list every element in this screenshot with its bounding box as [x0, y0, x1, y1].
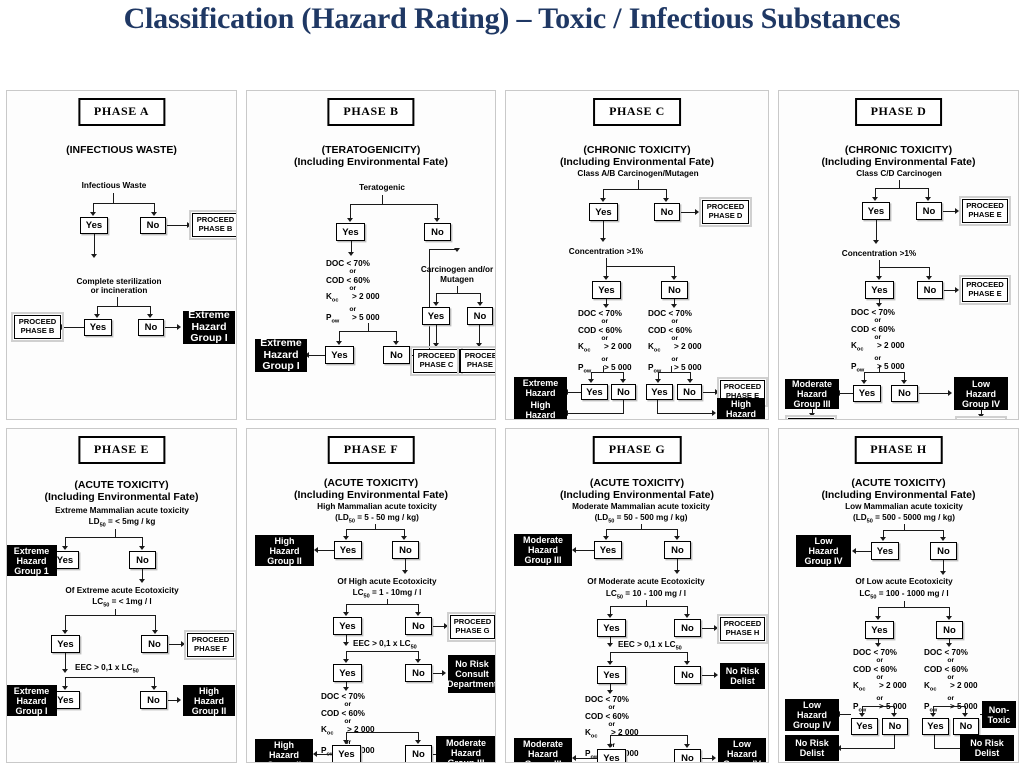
hazard-line2: Hazard	[16, 696, 46, 706]
question-infectious-waste: Infectious Waste	[59, 181, 169, 191]
criteria-koc-val: > 2 000	[950, 681, 978, 690]
criteria-or-1: or	[853, 657, 907, 664]
criteria-doc: DOC < 70%	[585, 695, 629, 704]
hazard-line2: Hazard	[525, 388, 555, 398]
decision-yes-d1[interactable]: Yes	[862, 202, 890, 220]
criteria-koc-sub: oc	[930, 687, 937, 693]
proceed-phase-e-d3[interactable]: PROCEED PHASE E	[788, 418, 834, 420]
criteria-or-2: or	[585, 721, 639, 728]
decision-no-d3[interactable]: No	[891, 385, 918, 402]
criteria-pow-val: > 5 000	[877, 362, 905, 371]
hazard-line1: Low	[815, 536, 833, 546]
outcome-high-hazard-group-ii-c-left: High Hazard Group II	[514, 399, 567, 420]
panel-subtitle-c-2: (Including Environmental Fate)	[506, 156, 768, 168]
criteria-doc: DOC < 70%	[321, 692, 365, 701]
phase-badge-b: PHASE B	[327, 98, 414, 126]
lc-prefix: LC	[353, 588, 364, 597]
criteria-doc: DOC < 70%	[851, 308, 895, 317]
proceed-phase-e-b[interactable]: PROCEED PHASE E	[460, 349, 496, 373]
question-ld50-high: (LD50 = 5 - 50 mg / kg)	[287, 513, 467, 527]
hazard-line1: Moderate	[523, 535, 563, 545]
question-ld50-extreme: LD50 = < 5mg / kg	[27, 517, 217, 531]
outcome-extreme-hazard-group-i-a: Extreme Hazard Group I	[183, 311, 235, 344]
criteria-koc-sub: oc	[654, 348, 661, 354]
panel-subtitle-a: (INFECTIOUS WASTE)	[7, 144, 236, 156]
outcome-moderate-hazard-group-iii-g1: Moderate Hazard Group III	[514, 534, 572, 566]
criteria-or-2: or	[648, 335, 702, 342]
hazard-line1: Low	[972, 379, 990, 389]
nontoxic-line1: Non-	[989, 705, 1010, 715]
hazard-line3: Group IV	[962, 399, 1000, 409]
decision-no-f1[interactable]: No	[392, 541, 419, 559]
decision-no-e2[interactable]: No	[141, 635, 168, 653]
decision-yes-d3[interactable]: Yes	[853, 385, 881, 402]
proceed-line2: PHASE E	[968, 290, 1001, 299]
panel-phase-e: PHASE E (ACUTE TOXICITY) (Including Envi…	[6, 428, 237, 763]
outcome-moderate-hazard-group-iii-g2: Moderate Hazard Group III	[514, 738, 572, 763]
panel-subtitle-g-2: (Including Environmental Fate)	[506, 489, 768, 501]
eec-prefix: EEC > 0,1 x LC	[75, 663, 133, 672]
criteria-stack-c-right: DOC < 70% or COD < 60% or Koc> 2 000 or …	[648, 309, 702, 377]
decision-no-a1[interactable]: No	[140, 217, 166, 234]
hazard-line1: High	[275, 536, 295, 546]
hazard-line2: Hazard	[528, 545, 558, 555]
decision-no-c1[interactable]: No	[654, 203, 680, 221]
hazard-line3: Group II	[523, 420, 558, 421]
hazard-line1: Low	[733, 739, 751, 749]
decision-yes-h1[interactable]: Yes	[871, 542, 899, 560]
hazard-line2: Hazard	[194, 696, 224, 706]
decision-yes-f4[interactable]: Yes	[332, 745, 361, 763]
hazard-line3: Group I	[262, 361, 299, 373]
decision-no-b1[interactable]: No	[424, 223, 451, 241]
criteria-stack-b: DOC < 70% or COD < 60% or Koc> 2 000 or …	[326, 259, 380, 327]
hazard-line3: Group II	[267, 556, 302, 566]
slide-canvas: Classification (Hazard Rating) – Toxic /…	[0, 0, 1024, 768]
decision-yes-b1[interactable]: Yes	[336, 223, 365, 241]
criteria-or-2: or	[853, 674, 907, 681]
decision-yes-b2[interactable]: Yes	[325, 346, 354, 364]
decision-no-h4[interactable]: No	[953, 718, 979, 735]
outcome-no-risk-delist-g: No Risk Delist	[720, 663, 765, 689]
proceed-phase-e-d4[interactable]: PROCEED PHASE E	[958, 419, 1004, 420]
norisk-line1: No Risk	[970, 738, 1004, 748]
panel-subtitle-b-1: (TERATOGENICITY)	[247, 144, 495, 156]
phase-badge-c: PHASE C	[593, 98, 681, 126]
panel-phase-b: PHASE B (TERATOGENICITY) (Including Envi…	[246, 90, 496, 420]
hazard-line3: Group 1	[14, 566, 49, 576]
question-class-ab-carcinogen: Class A/B Carcinogen/Mutagen	[538, 169, 738, 179]
phase-badge-g: PHASE G	[593, 436, 682, 464]
proceed-phase-h-g[interactable]: PROCEED PHASE H	[720, 617, 765, 641]
panel-subtitle-d-2: (Including Environmental Fate)	[779, 156, 1018, 168]
hazard-line1: High	[274, 740, 294, 750]
decision-no-f4[interactable]: No	[405, 745, 432, 763]
outcome-moderate-hazard-group-iii-f: Moderate Hazard Group III	[436, 736, 496, 763]
phase-badge-d: PHASE D	[855, 98, 943, 126]
lc-prefix: LC	[859, 589, 870, 598]
criteria-cod: COD < 60%	[321, 709, 365, 718]
criteria-cod: COD < 60%	[648, 326, 692, 335]
hazard-line2: Hazard	[797, 710, 827, 720]
criteria-cod: COD < 60%	[326, 276, 370, 285]
question-lc50-extreme: LC50 = < 1mg / l	[32, 597, 212, 611]
decision-no-e1[interactable]: No	[129, 551, 156, 569]
outcome-extreme-hazard-group-i-b: Extreme Hazard Group I	[255, 339, 307, 372]
ld-value: = 50 - 500 mg / kg)	[614, 513, 687, 522]
ld-value: = 500 - 5000 mg / kg)	[873, 513, 955, 522]
lc-prefix: LC	[92, 597, 103, 606]
criteria-koc-val: > 2 000	[877, 341, 905, 350]
decision-no-c3[interactable]: No	[611, 384, 636, 400]
phase-badge-h: PHASE H	[854, 436, 943, 464]
hazard-line2: Hazard	[525, 410, 555, 420]
outcome-moderate-hazard-group-iii-d: Moderate Hazard Group III	[785, 379, 839, 409]
panel-subtitle-e-1: (ACUTE TOXICITY)	[7, 479, 236, 491]
criteria-or-1: or	[851, 317, 905, 324]
decision-no-e3[interactable]: No	[140, 691, 167, 709]
proceed-line2: PHASE D	[709, 212, 743, 221]
decision-no-c2[interactable]: No	[661, 281, 688, 299]
nontoxic-line2: Toxic	[988, 715, 1011, 725]
panel-subtitle-f-2: (Including Environmental Fate)	[247, 489, 495, 501]
decision-yes-c4[interactable]: Yes	[646, 384, 673, 400]
hazard-line3: Group II	[192, 706, 227, 716]
hazard-line2: Hazard	[808, 546, 838, 556]
criteria-or-1: or	[585, 704, 639, 711]
hazard-line1: Extreme	[523, 378, 559, 388]
decision-no-g4[interactable]: No	[674, 749, 701, 763]
hazard-line3: Group III	[794, 399, 831, 409]
panel-phase-f: PHASE F (ACUTE TOXICITY) (Including Envi…	[246, 428, 496, 763]
decision-yes-f2[interactable]: Yes	[333, 617, 362, 635]
criteria-or-2: or	[326, 285, 380, 292]
panel-subtitle-h-1: (ACUTE TOXICITY)	[779, 477, 1018, 489]
criteria-cod: COD < 60%	[851, 325, 895, 334]
hazard-line3: Group I	[16, 706, 48, 716]
panel-subtitle-e-2: (Including Environmental Fate)	[7, 491, 236, 503]
outcome-no-risk-delist-h2: No Risk Delist	[960, 735, 1014, 761]
criteria-stack-d: DOC < 70% or COD < 60% or Koc> 2 000 or …	[851, 308, 905, 376]
decision-yes-c2[interactable]: Yes	[592, 281, 621, 299]
ld-prefix: (LD	[853, 513, 867, 522]
norisk-line1: No Risk	[726, 666, 760, 676]
criteria-koc-sub: oc	[584, 348, 591, 354]
criteria-koc-sub: oc	[857, 347, 864, 353]
lc-prefix: LC	[606, 589, 617, 598]
criteria-koc-sub: oc	[591, 734, 598, 740]
decision-no-f3[interactable]: No	[405, 664, 432, 682]
criteria-or-1: or	[326, 268, 380, 275]
eec-prefix: EEC > 0,1 x LC	[353, 639, 411, 648]
hazard-line2: Hazard	[966, 389, 996, 399]
question-extreme-ecotoxicity: Of Extreme acute Ecotoxicity	[32, 586, 212, 596]
outcome-extreme-hazard-group-1-e: Extreme Hazard Group 1	[6, 545, 57, 576]
criteria-or-1: or	[648, 318, 702, 325]
panel-subtitle-c-1: (CHRONIC TOXICITY)	[506, 144, 768, 156]
proceed-line2: PHASE E	[968, 211, 1001, 220]
proceed-phase-e-d1[interactable]: PROCEED PHASE E	[962, 199, 1008, 223]
ld-prefix: LD	[89, 517, 100, 526]
proceed-line2: PHASE H	[726, 629, 760, 638]
phase-badge-e: PHASE E	[78, 436, 165, 464]
criteria-or-3: or	[924, 695, 978, 702]
criteria-cod: COD < 60%	[853, 665, 897, 674]
decision-no-f2[interactable]: No	[405, 617, 432, 635]
hazard-line3: Group IV	[793, 720, 831, 730]
criteria-or-2: or	[578, 335, 632, 342]
criteria-cod: COD < 60%	[924, 665, 968, 674]
hazard-line2: Hazard	[726, 409, 756, 419]
proceed-phase-b-a1[interactable]: PROCEED PHASE B	[192, 213, 237, 237]
criteria-koc-val: > 2 000	[604, 342, 632, 351]
criteria-doc: DOC < 70%	[924, 648, 968, 657]
panel-subtitle-b-2: (Including Environmental Fate)	[247, 156, 495, 168]
panel-phase-g: PHASE G (ACUTE TOXICITY) (Including Envi…	[505, 428, 769, 763]
hazard-line2: Hazard	[269, 546, 299, 556]
question-concentration-c: Concentration >1%	[551, 247, 661, 257]
ld-value: = 5 - 50 mg / kg)	[355, 513, 419, 522]
decision-no-b3[interactable]: No	[467, 307, 493, 325]
hazard-line2: Hazard	[528, 749, 558, 759]
decision-yes-g2[interactable]: Yes	[597, 619, 626, 637]
decision-no-g3[interactable]: No	[674, 666, 701, 684]
panel-phase-a: PHASE A (INFECTIOUS WASTE) Infectious Wa…	[6, 90, 237, 420]
proceed-line2: PHASE G	[455, 627, 489, 636]
criteria-koc-sub: oc	[332, 298, 339, 304]
criteria-or-3: or	[648, 356, 702, 363]
panel-subtitle-g-1: (ACUTE TOXICITY)	[506, 477, 768, 489]
decision-yes-f1[interactable]: Yes	[334, 541, 362, 559]
question-high-mammalian-toxicity: High Mammalian acute toxicity	[287, 502, 467, 512]
criteria-koc-sub: oc	[859, 687, 866, 693]
eec-subscript: 50	[676, 646, 682, 652]
proceed-phase-f-e[interactable]: PROCEED PHASE F	[187, 633, 234, 657]
criteria-koc-sub: oc	[327, 731, 334, 737]
outcome-high-hazard-group-ii-c-right: High Hazard Group II	[717, 398, 765, 420]
hazard-line3: Group III	[448, 758, 485, 764]
norisk-line2: Delist	[975, 748, 1000, 758]
hazard-line3: Group I	[190, 333, 227, 345]
outcome-low-hazard-group-iv-h2: Low Hazard Group IV	[785, 699, 839, 731]
criteria-doc: DOC < 70%	[578, 309, 622, 318]
panel-subtitle-d-1: (CHRONIC TOXICITY)	[779, 144, 1018, 156]
hazard-line2: Hazard	[451, 748, 481, 758]
hazard-line2: Hazard	[727, 749, 757, 759]
question-sterilization-l2: or incineration	[49, 286, 189, 296]
hazard-line2: Hazard	[269, 750, 299, 760]
hazard-line2: Hazard	[797, 389, 827, 399]
criteria-pow-val: > 5 000	[352, 313, 380, 322]
outcome-high-hazard-group-ii-e: High Hazard Group II	[183, 685, 235, 716]
criteria-cod: COD < 60%	[585, 712, 629, 721]
proceed-phase-d-c[interactable]: PROCEED PHASE D	[702, 200, 749, 224]
question-carcinogen-mutagen-l1: Carcinogen and/or	[402, 265, 496, 275]
lc-value: = 10 - 100 mg / l	[623, 589, 686, 598]
criteria-cod: COD < 60%	[578, 326, 622, 335]
criteria-or-3: or	[578, 356, 632, 363]
question-low-ecotoxicity: Of Low acute Ecotoxicity	[809, 577, 999, 587]
norisk-line2: Delist	[730, 676, 755, 686]
ld-value: = < 5mg / kg	[106, 517, 156, 526]
norisk-line2: Consult	[455, 669, 489, 679]
ld-prefix: (LD	[595, 513, 609, 522]
lc-value: = 100 - 1000 mg / l	[876, 589, 948, 598]
criteria-doc: DOC < 70%	[853, 648, 897, 657]
hazard-line1: Moderate	[446, 738, 486, 748]
decision-yes-h2[interactable]: Yes	[865, 621, 894, 639]
norisk-line2: Delist	[800, 748, 825, 758]
decision-no-h1[interactable]: No	[930, 542, 957, 560]
question-concentration-d: Concentration >1%	[824, 249, 934, 259]
proceed-phase-e-d2[interactable]: PROCEED PHASE E	[962, 278, 1008, 302]
proceed-line2: PHASE E	[467, 361, 496, 370]
criteria-or-3: or	[853, 695, 907, 702]
decision-yes-h4[interactable]: Yes	[922, 718, 949, 735]
ld-prefix: (LD	[335, 513, 349, 522]
panel-phase-h: PHASE H (ACUTE TOXICITY) (Including Envi…	[778, 428, 1019, 763]
decision-no-g2[interactable]: No	[674, 619, 701, 637]
outcome-non-toxic-h: Non- Toxic	[982, 701, 1016, 728]
decision-no-h3[interactable]: No	[882, 718, 908, 735]
criteria-or-3: or	[326, 306, 380, 313]
lc-value: = 1 - 10mg / l	[370, 588, 422, 597]
hazard-line1: High	[199, 686, 219, 696]
decision-no-a2[interactable]: No	[138, 319, 164, 336]
criteria-or-2: or	[924, 674, 978, 681]
decision-no-d1[interactable]: No	[916, 202, 942, 220]
decision-yes-a2[interactable]: Yes	[84, 319, 112, 336]
phase-badge-f: PHASE F	[328, 436, 415, 464]
decision-no-g1[interactable]: No	[664, 541, 691, 559]
question-class-cd-carcinogen: Class C/D Carcinogen	[819, 169, 979, 179]
decision-yes-b3[interactable]: Yes	[422, 307, 450, 325]
decision-yes-g3[interactable]: Yes	[597, 666, 626, 684]
decision-yes-c1[interactable]: Yes	[589, 203, 618, 221]
question-extreme-mammalian-toxicity: Extreme Mammalian acute toxicity	[27, 506, 217, 516]
hazard-line3: Group II	[724, 419, 759, 421]
proceed-line2: PHASE C	[420, 361, 454, 370]
outcome-high-hazard-group-ii-f1: High Hazard Group II	[255, 535, 314, 566]
eec-subscript: 50	[133, 669, 139, 675]
proceed-phase-g-f[interactable]: PROCEED PHASE G	[450, 615, 495, 639]
decision-yes-d2[interactable]: Yes	[865, 281, 894, 299]
question-high-ecotoxicity: Of High acute Ecotoxicity	[297, 577, 477, 587]
criteria-stack-c-left: DOC < 70% or COD < 60% or Koc> 2 000 or …	[578, 309, 632, 377]
proceed-line2: PHASE B	[199, 225, 233, 234]
norisk-line1: No Risk	[455, 659, 489, 669]
panel-subtitle-f-1: (ACUTE TOXICITY)	[247, 477, 495, 489]
eec-subscript: 50	[411, 645, 417, 651]
hazard-line1: Moderate	[792, 379, 832, 389]
outcome-low-hazard-group-iv-d: Low Hazard Group IV	[954, 377, 1008, 410]
decision-yes-h3[interactable]: Yes	[851, 718, 878, 735]
decision-no-d2[interactable]: No	[917, 281, 943, 299]
decision-yes-c3[interactable]: Yes	[581, 384, 608, 400]
hazard-line3: Group III	[525, 555, 562, 565]
question-low-mammalian-toxicity: Low Mammalian acute toxicity	[809, 502, 999, 512]
hazard-line1: Extreme	[14, 686, 50, 696]
hazard-line1: Moderate	[523, 739, 563, 749]
criteria-doc: DOC < 70%	[326, 259, 370, 268]
decision-yes-a1[interactable]: Yes	[80, 217, 108, 234]
proceed-line2: PHASE F	[194, 645, 227, 654]
proceed-phase-c-b[interactable]: PROCEED PHASE C	[413, 349, 460, 373]
hazard-line2: Hazard	[16, 556, 46, 566]
hazard-line3: Group IV	[805, 556, 843, 566]
criteria-or-1: or	[924, 657, 978, 664]
phase-badge-a: PHASE A	[78, 98, 165, 126]
proceed-phase-b-a2[interactable]: PROCEED PHASE B	[14, 315, 61, 339]
outcome-high-hazard-group-ii-f2: High Hazard Group II	[255, 739, 313, 763]
outcome-no-risk-consult-department-f: No Risk Consult Department	[448, 655, 496, 693]
question-moderate-ecotoxicity: Of Moderate acute Ecotoxicity	[546, 577, 746, 587]
decision-yes-g1[interactable]: Yes	[594, 541, 622, 559]
question-carcinogen-mutagen-l2: Mutagen	[402, 275, 496, 285]
eec-condition-e: EEC > 0,1 x LC50	[75, 663, 195, 677]
hazard-line1: Low	[803, 700, 821, 710]
panel-phase-d: PHASE D (CHRONIC TOXICITY) (Including En…	[778, 90, 1019, 420]
decision-yes-f3[interactable]: Yes	[333, 664, 362, 682]
decision-no-c4[interactable]: No	[677, 384, 702, 400]
hazard-line3: Group IV	[723, 759, 761, 763]
question-teratogenic: Teratogenic	[337, 183, 427, 193]
norisk-line3: Department	[447, 679, 496, 689]
outcome-low-hazard-group-iv-g: Low Hazard Group IV	[718, 738, 766, 763]
criteria-or-1: or	[321, 701, 375, 708]
criteria-doc: DOC < 70%	[648, 309, 692, 318]
criteria-pow-sub: ow	[331, 319, 339, 325]
outcome-extreme-hazard-group-i-e: Extreme Hazard Group I	[6, 685, 57, 716]
question-moderate-mammalian-toxicity: Moderate Mammalian acute toxicity	[546, 502, 736, 512]
hazard-line1: High	[531, 400, 551, 410]
criteria-or-1: or	[578, 318, 632, 325]
eec-prefix: EEC > 0,1 x LC	[618, 640, 676, 649]
lc-value: = < 1mg / l	[109, 597, 151, 606]
outcome-low-hazard-group-iv-h1: Low Hazard Group IV	[796, 535, 851, 567]
hazard-line1: High	[731, 399, 751, 409]
criteria-koc-val: > 2 000	[879, 681, 907, 690]
hazard-line1: Extreme	[14, 546, 50, 556]
decision-no-h2[interactable]: No	[936, 621, 963, 639]
criteria-or-3: or	[851, 355, 905, 362]
page-title: Classification (Hazard Rating) – Toxic /…	[0, 2, 1024, 35]
criteria-koc-val: > 2 000	[674, 342, 702, 351]
criteria-or-2: or	[321, 718, 375, 725]
decision-no-b2[interactable]: No	[383, 346, 410, 364]
panel-subtitle-h-2: (Including Environmental Fate)	[779, 489, 1018, 501]
decision-yes-g4[interactable]: Yes	[597, 749, 626, 763]
outcome-no-risk-delist-h1: No Risk Delist	[785, 735, 839, 761]
criteria-koc-val: > 2 000	[352, 292, 380, 301]
norisk-line1: No Risk	[795, 738, 829, 748]
criteria-or-2: or	[851, 334, 905, 341]
hazard-line3: Group II	[267, 760, 302, 764]
proceed-line2: PHASE B	[21, 327, 55, 336]
hazard-line3: Group III	[525, 759, 562, 763]
panel-phase-c: PHASE C (CHRONIC TOXICITY) (Including En…	[505, 90, 769, 420]
decision-yes-e2[interactable]: Yes	[51, 635, 80, 653]
